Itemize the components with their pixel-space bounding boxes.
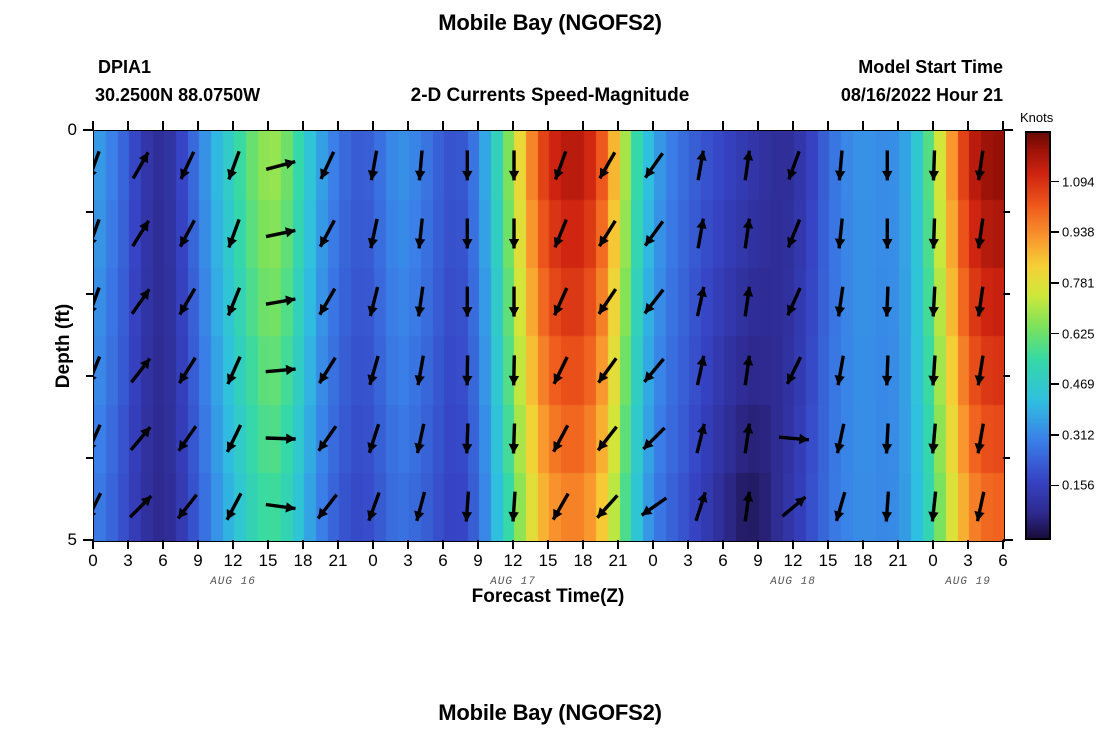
y-tick <box>86 211 93 213</box>
colorbar-gradient <box>1027 133 1049 538</box>
y-tick-right <box>1003 539 1013 541</box>
page-title: Mobile Bay (NGOFS2) <box>0 10 1100 36</box>
x-tick-top <box>617 121 619 130</box>
x-tick <box>92 540 94 549</box>
x-tick-top <box>477 121 479 130</box>
colorbar-tick <box>1050 181 1059 183</box>
x-tick-top <box>652 121 654 130</box>
x-tick <box>232 540 234 549</box>
colorbar-tick-label: 0.469 <box>1062 377 1095 392</box>
x-tick <box>197 540 199 549</box>
x-tick-top <box>442 121 444 130</box>
x-tick-label: 0 <box>368 551 377 571</box>
x-tick-top <box>792 121 794 130</box>
x-tick-top <box>757 121 759 130</box>
x-tick <box>1002 540 1004 549</box>
colorbar-tick-label: 0.312 <box>1062 427 1095 442</box>
x-tick <box>757 540 759 549</box>
model-start-time-value: 08/16/2022 Hour 21 <box>841 85 1003 106</box>
x-tick <box>582 540 584 549</box>
x-tick <box>722 540 724 549</box>
x-tick-top <box>512 121 514 130</box>
y-tick <box>86 375 93 377</box>
x-tick <box>652 540 654 549</box>
x-tick-top <box>197 121 199 130</box>
x-tick-top <box>302 121 304 130</box>
x-tick-label: 9 <box>193 551 202 571</box>
x-tick-top <box>337 121 339 130</box>
x-tick <box>337 540 339 549</box>
x-tick-top <box>372 121 374 130</box>
x-tick-top <box>967 121 969 130</box>
x-tick-label: 0 <box>648 551 657 571</box>
x-tick <box>302 540 304 549</box>
y-tick-right <box>1003 211 1010 213</box>
x-tick-label: 6 <box>438 551 447 571</box>
x-tick-label: 3 <box>403 551 412 571</box>
x-tick-label: 12 <box>224 551 243 571</box>
x-tick <box>512 540 514 549</box>
x-tick <box>827 540 829 549</box>
x-tick-top <box>232 121 234 130</box>
x-tick <box>617 540 619 549</box>
colorbar-tick-label: 0.781 <box>1062 275 1095 290</box>
x-tick-label: 18 <box>294 551 313 571</box>
colorbar-tick <box>1050 282 1059 284</box>
colorbar <box>1025 131 1051 540</box>
colorbar-title: Knots <box>1020 110 1053 125</box>
x-tick <box>442 540 444 549</box>
x-tick-label: 21 <box>329 551 348 571</box>
x-tick <box>792 540 794 549</box>
y-tick <box>83 539 93 541</box>
x-tick-label: 6 <box>718 551 727 571</box>
x-tick <box>477 540 479 549</box>
colorbar-tick-label: 0.938 <box>1062 225 1095 240</box>
x-tick-label: 0 <box>928 551 937 571</box>
x-tick-label: 12 <box>784 551 803 571</box>
x-tick-label: 6 <box>998 551 1007 571</box>
x-tick-label: 15 <box>539 551 558 571</box>
x-tick <box>862 540 864 549</box>
x-tick-label: 3 <box>963 551 972 571</box>
x-tick <box>687 540 689 549</box>
model-start-time-label: Model Start Time <box>858 57 1003 78</box>
y-tick-label: 5 <box>47 530 77 550</box>
x-axis-title: Forecast Time(Z) <box>93 586 1003 608</box>
colorbar-tick-label: 1.094 <box>1062 174 1095 189</box>
x-tick <box>967 540 969 549</box>
x-tick <box>897 540 899 549</box>
colorbar-tick <box>1050 333 1059 335</box>
colorbar-tick-label: 0.156 <box>1062 478 1095 493</box>
x-tick <box>372 540 374 549</box>
x-tick-top <box>547 121 549 130</box>
x-tick <box>932 540 934 549</box>
x-tick <box>547 540 549 549</box>
x-tick-label: 0 <box>88 551 97 571</box>
x-tick <box>127 540 129 549</box>
y-axis-title: Depth (ft) <box>53 266 75 426</box>
y-tick-right <box>1003 375 1010 377</box>
x-tick <box>267 540 269 549</box>
y-tick-right <box>1003 293 1010 295</box>
y-tick-right <box>1003 457 1010 459</box>
x-tick <box>162 540 164 549</box>
colorbar-tick <box>1050 231 1059 233</box>
colorbar-tick-label: 0.625 <box>1062 326 1095 341</box>
x-tick-top <box>267 121 269 130</box>
speed-magnitude-heatmap <box>94 131 1004 541</box>
x-tick-label: 9 <box>473 551 482 571</box>
x-tick-label: 18 <box>574 551 593 571</box>
x-tick-label: 6 <box>158 551 167 571</box>
colorbar-tick <box>1050 434 1059 436</box>
x-tick-top <box>897 121 899 130</box>
y-tick <box>86 293 93 295</box>
heatmap-plot-area <box>93 130 1005 542</box>
station-id-label: DPIA1 <box>98 57 151 78</box>
x-tick-label: 9 <box>753 551 762 571</box>
y-tick-label: 0 <box>47 120 77 140</box>
x-tick-label: 21 <box>609 551 628 571</box>
x-tick-top <box>162 121 164 130</box>
x-tick-top <box>722 121 724 130</box>
x-tick <box>407 540 409 549</box>
x-tick-top <box>687 121 689 130</box>
x-tick-label: 21 <box>889 551 908 571</box>
x-tick-label: 3 <box>123 551 132 571</box>
colorbar-tick <box>1050 485 1059 487</box>
x-tick-label: 15 <box>819 551 838 571</box>
x-tick-label: 15 <box>259 551 278 571</box>
x-tick-label: 18 <box>854 551 873 571</box>
y-tick <box>83 129 93 131</box>
y-tick <box>86 457 93 459</box>
x-tick-top <box>582 121 584 130</box>
y-tick-right <box>1003 129 1013 131</box>
x-tick-top <box>932 121 934 130</box>
colorbar-tick <box>1050 383 1059 385</box>
x-tick-top <box>127 121 129 130</box>
x-tick-label: 3 <box>683 551 692 571</box>
x-tick-top <box>407 121 409 130</box>
bottom-page-title: Mobile Bay (NGOFS2) <box>0 700 1100 726</box>
x-tick-label: 12 <box>504 551 523 571</box>
x-tick-top <box>862 121 864 130</box>
x-tick-top <box>827 121 829 130</box>
